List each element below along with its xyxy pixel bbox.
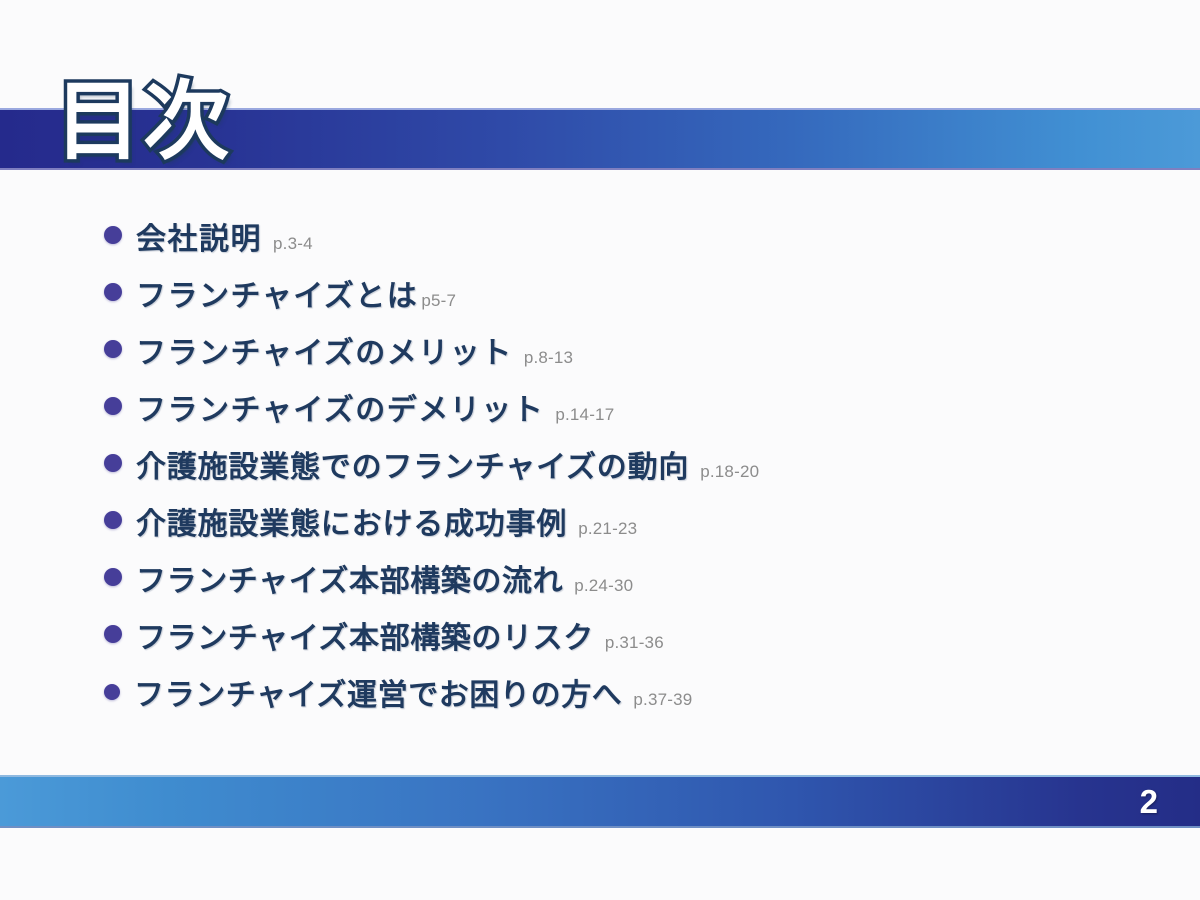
toc-item-label: 介護施設業態でのフランチャイズの動向 — [136, 442, 689, 486]
bullet-icon — [104, 625, 122, 643]
table-of-contents-list: 会社説明 p.3-4 フランチャイズとは p5-7 フランチャイズのメリット p… — [104, 214, 1164, 727]
page-number: 2 — [1140, 783, 1158, 821]
toc-item-label: フランチャイズ本部構築の流れ — [136, 556, 563, 600]
toc-item-8[interactable]: フランチャイズ本部構築のリスク p.31-36 — [104, 613, 1164, 670]
bullet-icon — [104, 684, 120, 700]
toc-item-page-ref: p.31-36 — [605, 633, 664, 653]
bullet-icon — [104, 226, 122, 244]
toc-item-5[interactable]: 介護施設業態でのフランチャイズの動向 p.18-20 — [104, 442, 1164, 499]
toc-item-page-ref: p5-7 — [421, 291, 456, 311]
toc-item-7[interactable]: フランチャイズ本部構築の流れ p.24-30 — [104, 556, 1164, 613]
toc-item-page-ref: p.3-4 — [273, 234, 313, 254]
bullet-icon — [104, 454, 122, 472]
toc-item-9[interactable]: フランチャイズ運営でお困りの方へ p.37-39 — [104, 670, 1164, 727]
toc-item-2[interactable]: フランチャイズとは p5-7 — [104, 271, 1164, 328]
footer-band — [0, 775, 1200, 828]
toc-item-page-ref: p.21-23 — [578, 519, 637, 539]
toc-item-page-ref: p.37-39 — [633, 690, 692, 710]
bullet-icon — [104, 340, 122, 358]
bullet-icon — [104, 511, 122, 529]
toc-item-page-ref: p.14-17 — [555, 405, 614, 425]
bullet-icon — [104, 397, 122, 415]
toc-item-page-ref: p.8-13 — [524, 348, 573, 368]
toc-item-4[interactable]: フランチャイズのデメリット p.14-17 — [104, 385, 1164, 442]
toc-item-3[interactable]: フランチャイズのメリット p.8-13 — [104, 328, 1164, 385]
slide-root: 目次 会社説明 p.3-4 フランチャイズとは p5-7 フランチャイズのメリッ… — [0, 0, 1200, 900]
toc-item-page-ref: p.18-20 — [700, 462, 759, 482]
toc-item-1[interactable]: 会社説明 p.3-4 — [104, 214, 1164, 271]
page-title: 目次 — [55, 70, 231, 174]
bullet-icon — [104, 568, 122, 586]
toc-item-label: フランチャイズ運営でお困りの方へ — [134, 670, 622, 714]
toc-item-label: フランチャイズとは — [136, 271, 418, 315]
bullet-icon — [104, 283, 122, 301]
toc-item-label: フランチャイズ本部構築のリスク — [136, 613, 594, 657]
toc-item-label: フランチャイズのメリット — [136, 328, 513, 372]
toc-item-label: 介護施設業態における成功事例 — [136, 499, 567, 543]
toc-item-label: 会社説明 — [136, 214, 262, 258]
toc-item-page-ref: p.24-30 — [574, 576, 633, 596]
toc-item-6[interactable]: 介護施設業態における成功事例 p.21-23 — [104, 499, 1164, 556]
toc-item-label: フランチャイズのデメリット — [136, 385, 544, 429]
